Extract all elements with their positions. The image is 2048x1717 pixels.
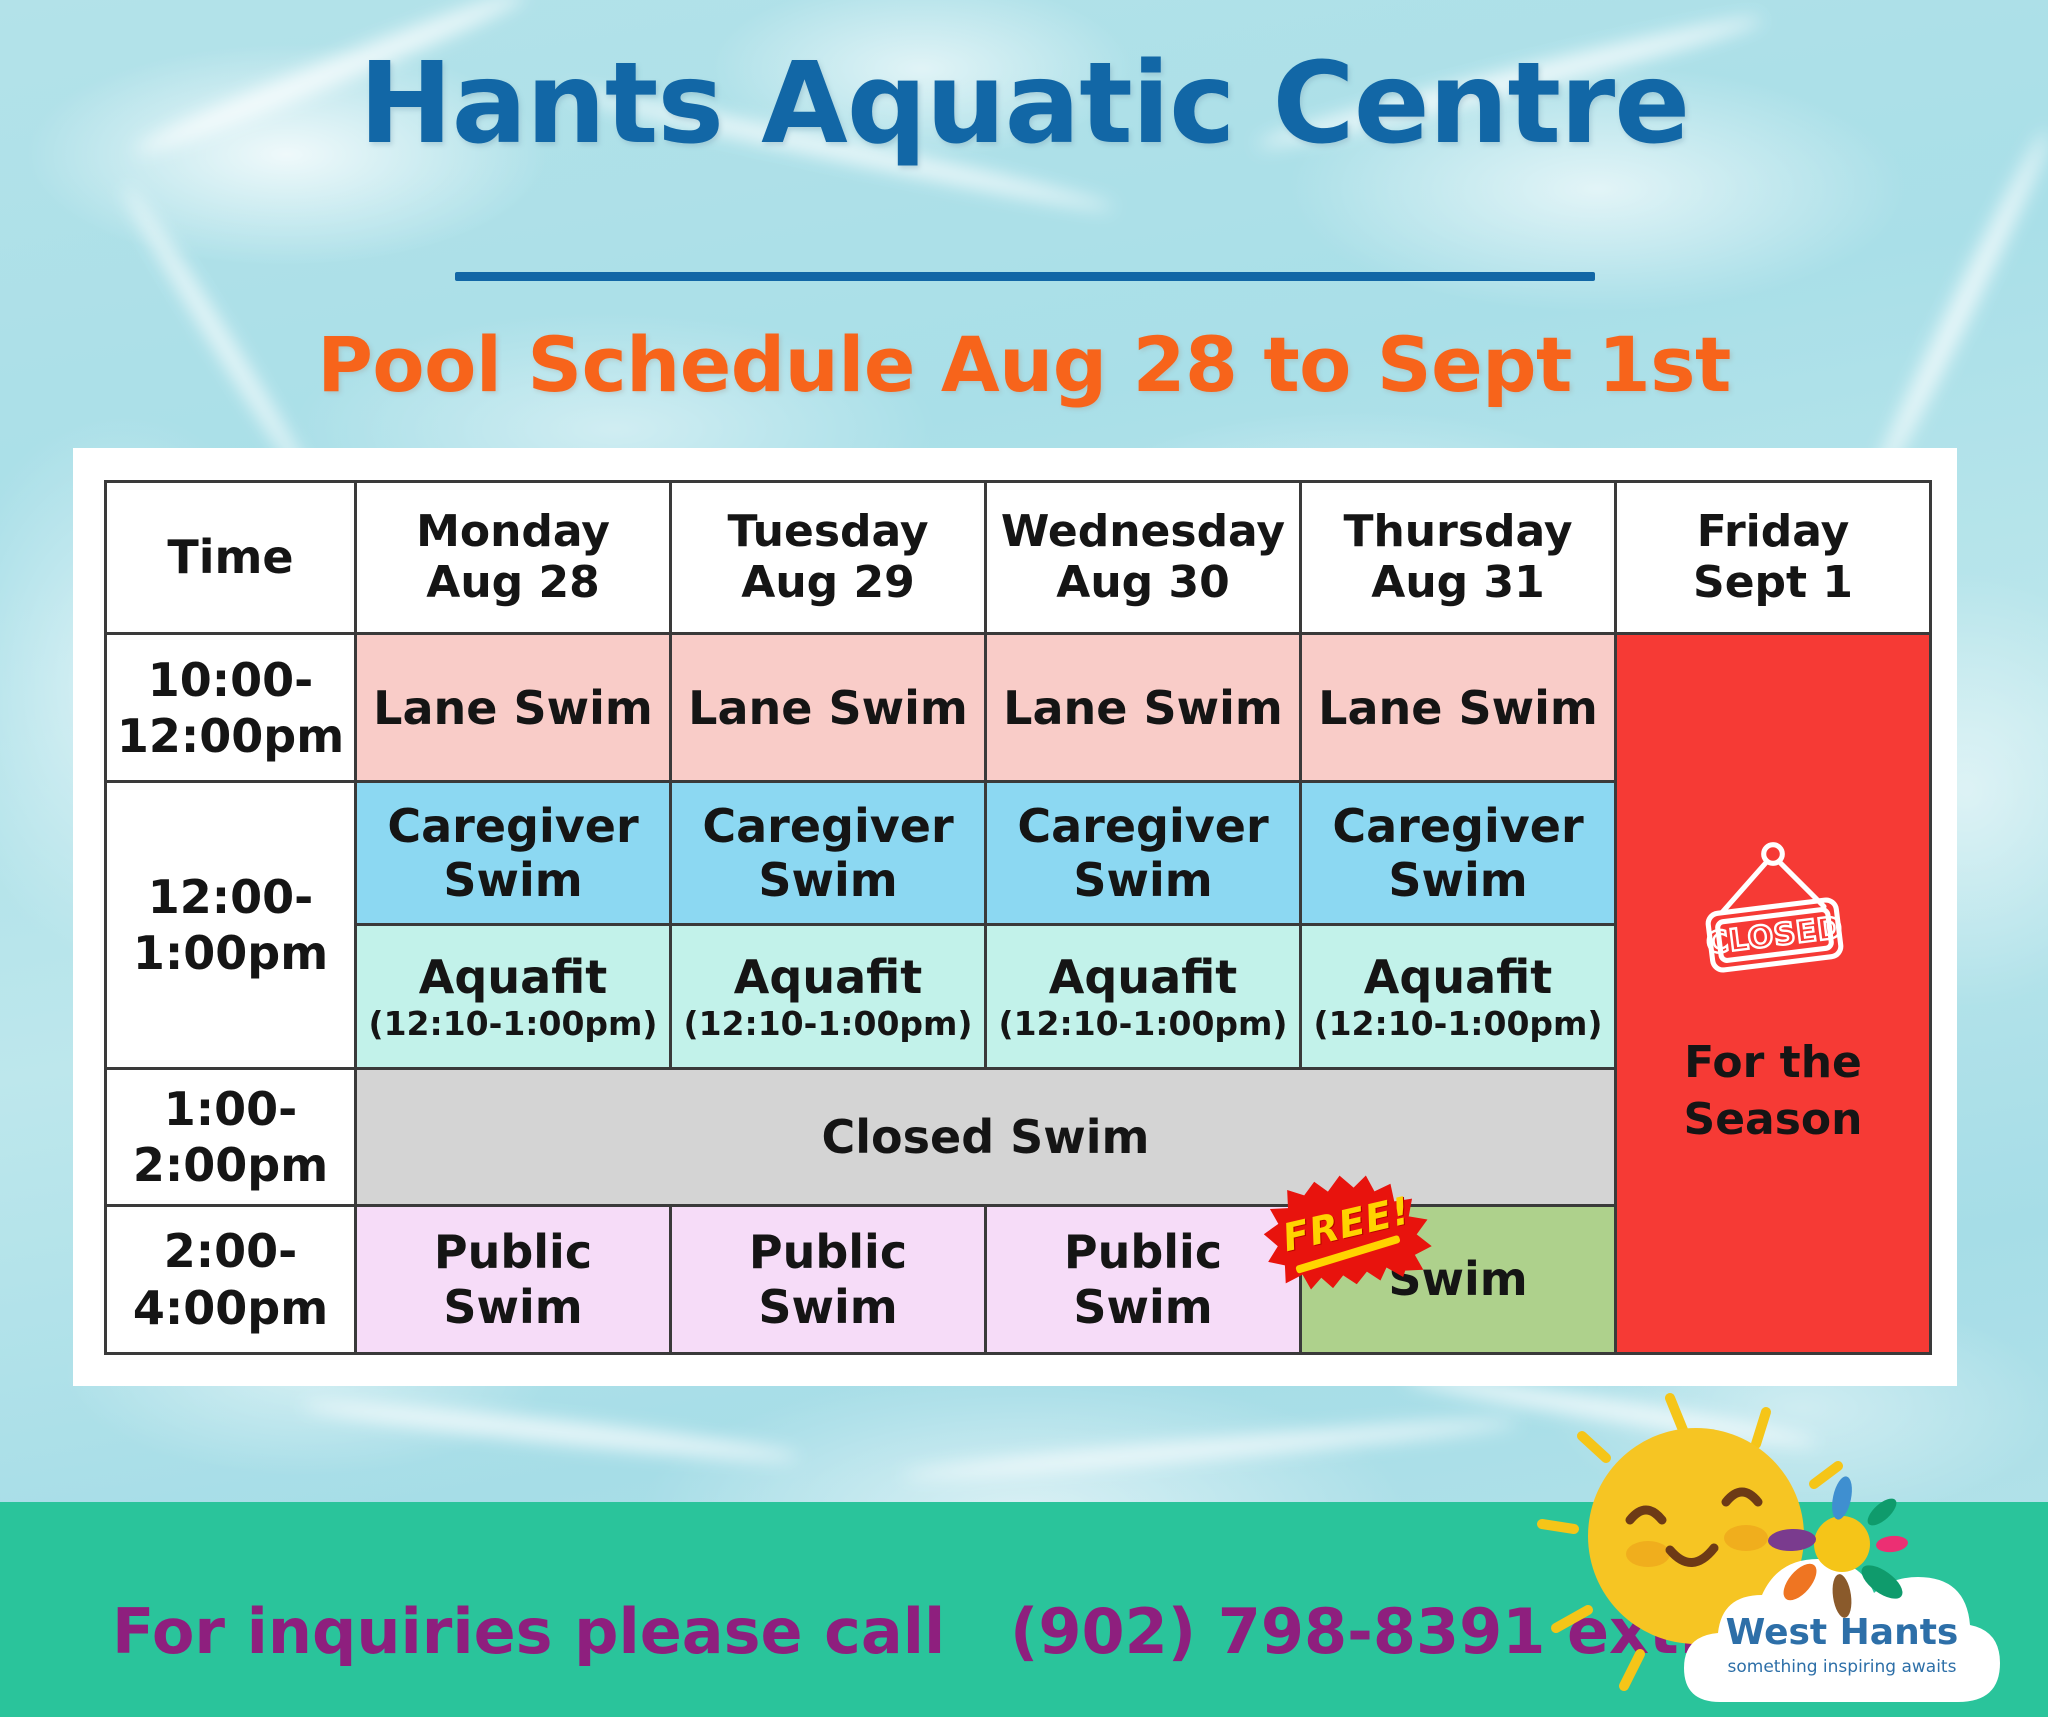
page-title: Hants Aquatic Centre xyxy=(0,46,2048,164)
closed-note-line-2: Season xyxy=(1684,1091,1863,1148)
cell-wednesday-public-swim: Public Swim xyxy=(986,1206,1301,1354)
cell-friday-closed-for-season: CLOSED For the Season xyxy=(1616,634,1931,1354)
cell-thursday-caregiver-swim: Caregiver Swim xyxy=(1301,782,1616,925)
activity-line-2: Swim xyxy=(443,1280,582,1334)
header-day-name: Thursday xyxy=(1306,507,1610,558)
west-hants-logo: West Hants something inspiring awaits xyxy=(1520,1392,2048,1717)
activity-label: Aquafit xyxy=(419,950,607,1004)
time-line-1: 2:00- xyxy=(164,1224,298,1278)
header-day-name: Wednesday xyxy=(991,507,1295,558)
activity-line-2: Swim xyxy=(1073,1280,1212,1334)
cell-tuesday-public-swim: Public Swim xyxy=(671,1206,986,1354)
cell-closed-swim: Closed Swim xyxy=(356,1068,1616,1206)
activity-time-note: (12:10-1:00pm) xyxy=(991,1006,1295,1042)
closed-note-line-1: For the xyxy=(1684,1034,1863,1091)
activity-line-1: Public xyxy=(1064,1225,1222,1279)
closed-sign-icon: CLOSED xyxy=(1683,839,1863,1003)
column-header-wednesday: Wednesday Aug 30 xyxy=(986,482,1301,634)
cell-wednesday-caregiver-swim: Caregiver Swim xyxy=(986,782,1301,925)
pool-schedule-poster: Hants Aquatic Centre Pool Schedule Aug 2… xyxy=(0,0,2048,1717)
activity-line-1: Public xyxy=(434,1225,592,1279)
cell-tuesday-lane-swim: Lane Swim xyxy=(671,634,986,782)
cell-tuesday-caregiver-swim: Caregiver Swim xyxy=(671,782,986,925)
cell-tuesday-aquafit: Aquafit (12:10-1:00pm) xyxy=(671,925,986,1068)
activity-label: Aquafit xyxy=(734,950,922,1004)
time-line-1: 12:00- xyxy=(148,870,314,924)
cell-thursday-lane-swim: Lane Swim xyxy=(1301,634,1616,782)
table-row: 10:00- 12:00pm Lane Swim Lane Swim Lane … xyxy=(106,634,1931,782)
activity-line-1: Caregiver xyxy=(387,799,638,853)
cell-monday-caregiver-swim: Caregiver Swim xyxy=(356,782,671,925)
time-line-2: 2:00pm xyxy=(133,1138,328,1192)
cell-thursday-aquafit: Aquafit (12:10-1:00pm) xyxy=(1301,925,1616,1068)
activity-line-1: Caregiver xyxy=(1017,799,1268,853)
column-header-friday: Friday Sept 1 xyxy=(1616,482,1931,634)
time-slot-1: 10:00- 12:00pm xyxy=(106,634,356,782)
header-day-name: Friday xyxy=(1621,507,1925,558)
activity-line-2: Swim xyxy=(443,853,582,907)
cell-monday-public-swim: Public Swim xyxy=(356,1206,671,1354)
activity-time-note: (12:10-1:00pm) xyxy=(1306,1006,1610,1042)
schedule-table: Time Monday Aug 28 Tuesday Aug 29 Wednes… xyxy=(104,480,1932,1355)
header-day-date: Aug 28 xyxy=(361,558,665,609)
header-day-name: Tuesday xyxy=(676,507,980,558)
activity-line-2: Swim xyxy=(1073,853,1212,907)
activity-time-note: (12:10-1:00pm) xyxy=(361,1006,665,1042)
activity-line-2: Swim xyxy=(758,1280,897,1334)
column-header-tuesday: Tuesday Aug 29 xyxy=(671,482,986,634)
table-header-row: Time Monday Aug 28 Tuesday Aug 29 Wednes… xyxy=(106,482,1931,634)
header-day-date: Aug 29 xyxy=(676,558,980,609)
header-day-date: Aug 31 xyxy=(1306,558,1610,609)
time-line-1: 1:00- xyxy=(164,1082,298,1136)
cell-monday-aquafit: Aquafit (12:10-1:00pm) xyxy=(356,925,671,1068)
schedule-card: Time Monday Aug 28 Tuesday Aug 29 Wednes… xyxy=(73,448,1957,1386)
activity-label: Aquafit xyxy=(1049,950,1237,1004)
title-divider xyxy=(455,272,1595,281)
activity-line-1: Caregiver xyxy=(702,799,953,853)
column-header-monday: Monday Aug 28 xyxy=(356,482,671,634)
header-day-date: Aug 30 xyxy=(991,558,1295,609)
logo-wordmark: West Hants xyxy=(1726,1612,1959,1653)
column-header-thursday: Thursday Aug 31 xyxy=(1301,482,1616,634)
activity-label: Aquafit xyxy=(1364,950,1552,1004)
logo-tagline: something inspiring awaits xyxy=(1728,1657,1957,1677)
time-slot-2: 12:00- 1:00pm xyxy=(106,782,356,1068)
header-day-name: Monday xyxy=(361,507,665,558)
time-line-1: 10:00- xyxy=(148,653,314,707)
time-line-2: 4:00pm xyxy=(133,1281,328,1335)
header-day-date: Sept 1 xyxy=(1621,558,1925,609)
closed-note: For the Season xyxy=(1684,1034,1863,1148)
time-slot-4: 2:00- 4:00pm xyxy=(106,1206,356,1354)
activity-time-note: (12:10-1:00pm) xyxy=(676,1006,980,1042)
cell-wednesday-aquafit: Aquafit (12:10-1:00pm) xyxy=(986,925,1301,1068)
time-line-2: 12:00pm xyxy=(117,709,344,763)
activity-line-1: Caregiver xyxy=(1332,799,1583,853)
cell-thursday-free-swim: FREE! Swim xyxy=(1301,1206,1616,1354)
page-subtitle: Pool Schedule Aug 28 to Sept 1st xyxy=(0,325,2048,405)
column-header-time: Time xyxy=(106,482,356,634)
time-slot-3: 1:00- 2:00pm xyxy=(106,1068,356,1206)
activity-line-2: Swim xyxy=(1388,853,1527,907)
time-line-2: 1:00pm xyxy=(133,926,328,980)
activity-line-2: Swim xyxy=(758,853,897,907)
activity-line-1: Public xyxy=(749,1225,907,1279)
cell-wednesday-lane-swim: Lane Swim xyxy=(986,634,1301,782)
cell-monday-lane-swim: Lane Swim xyxy=(356,634,671,782)
